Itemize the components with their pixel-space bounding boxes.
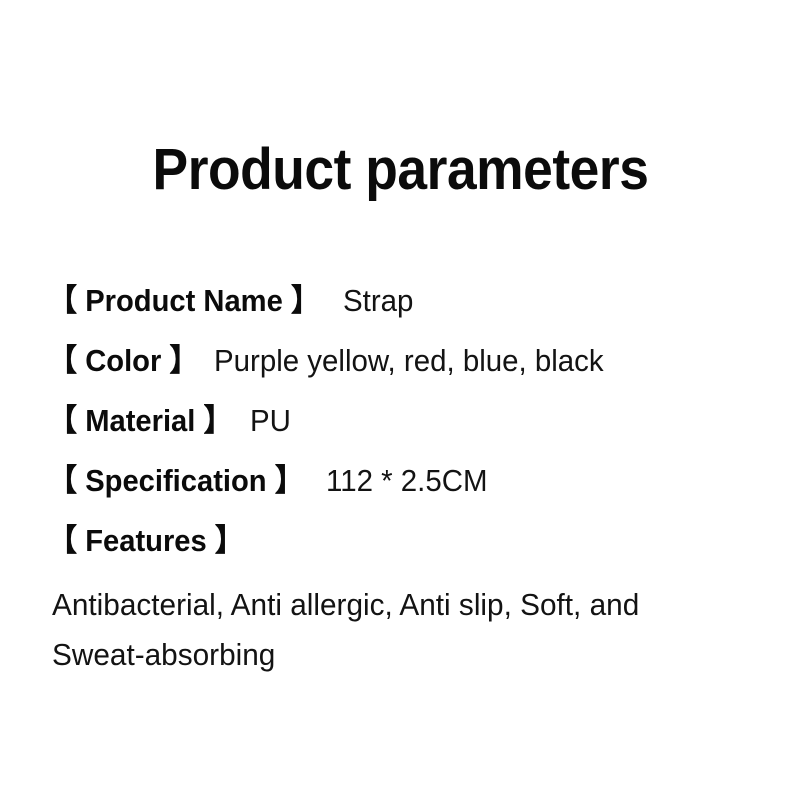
spec-value-specification: 112 * 2.5CM [326, 464, 488, 498]
spec-row-specification: 【 Specification 】 112 * 2.5CM [48, 464, 778, 524]
spec-label-specification: 【 Specification 】 [48, 464, 304, 498]
spec-label-features-row: 【 Features 】 [48, 524, 778, 580]
spec-value-product-name: Strap [343, 284, 413, 318]
page-title-container: Product parameters [0, 100, 800, 240]
spec-row-color: 【 Color 】 Purple yellow, red, blue, blac… [48, 344, 778, 404]
spec-label-material: 【 Material 】 [48, 404, 233, 438]
spec-label-product-name: 【 Product Name 】 [48, 284, 320, 318]
spec-value-color: Purple yellow, red, blue, black [214, 344, 604, 378]
spec-value-material: PU [250, 404, 291, 438]
spec-value-features: Antibacterial, Anti allergic, Anti slip,… [52, 580, 736, 680]
spec-row-product-name: 【 Product Name 】 Strap [48, 284, 778, 344]
product-parameters-page: Product parameters 【 Product Name 】 Stra… [0, 0, 800, 800]
spec-label-features: 【 Features 】 [48, 524, 244, 558]
spec-label-color: 【 Color 】 [48, 344, 199, 378]
spec-row-features: 【 Features 】 Antibacterial, Anti allergi… [48, 524, 778, 680]
page-title: Product parameters [152, 139, 648, 201]
specification-list: 【 Product Name 】 Strap 【 Color 】 Purple … [48, 284, 778, 680]
spec-row-material: 【 Material 】 PU [48, 404, 778, 464]
